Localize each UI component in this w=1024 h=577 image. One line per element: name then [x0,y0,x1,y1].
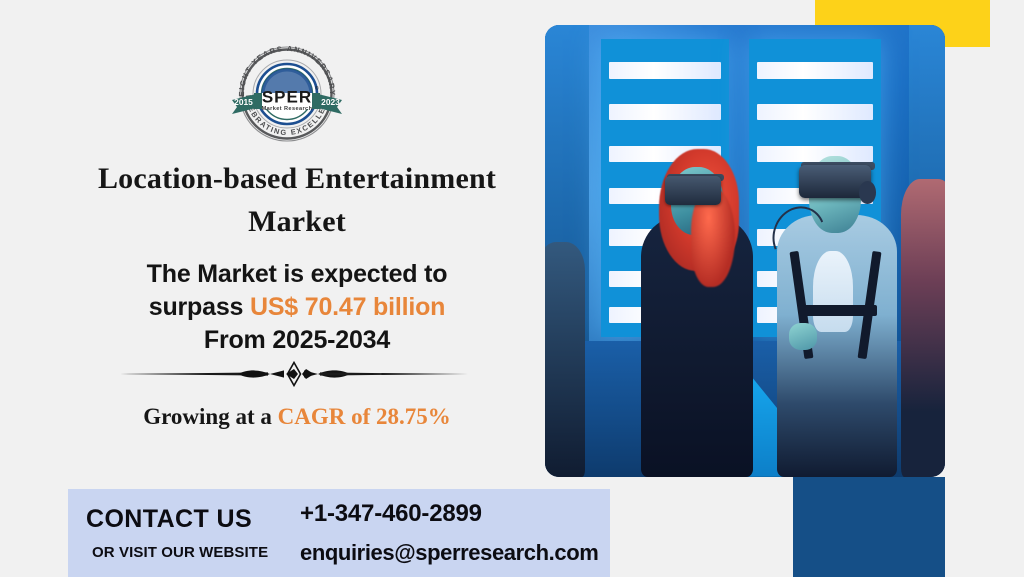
hero-photo [545,25,945,477]
contact-us-label: CONTACT US [86,505,300,534]
poster-canvas: EIGHT YEARS ANNIVERSARY CELEBRATING EXCE… [0,0,1024,577]
logo-tagline-text: Market Research [262,106,313,112]
contact-values: +1-347-460-2899 enquiries@sperresearch.c… [300,500,610,566]
contact-email[interactable]: enquiries@sperresearch.com [300,540,610,566]
scene-person-man-shirt [813,251,853,332]
cagr-highlight: CAGR of 28.75% [278,404,451,429]
logo-year-start: 2015 [234,97,253,107]
scene-person-edge-left [545,242,585,477]
logo-registered-mark: ® [315,85,319,92]
visit-website-label: OR VISIT OUR WEBSITE [86,544,300,561]
cagr-prefix: Growing at a [143,404,277,429]
sper-logo-icon: EIGHT YEARS ANNIVERSARY CELEBRATING EXCE… [226,32,348,150]
market-value-highlight: US$ 70.47 billion [250,293,445,321]
ornamental-divider [118,360,470,388]
scene-man-harness-chest [801,305,877,316]
logo-brand-text: SPER [262,88,312,107]
page-title: Location-based Entertainment Market [62,158,532,243]
ornamental-divider-icon [118,360,470,388]
scene-person-edge-right [901,179,945,477]
contact-bar: CONTACT US OR VISIT OUR WEBSITE +1-347-4… [68,489,610,577]
sper-logo: EIGHT YEARS ANNIVERSARY CELEBRATING EXCE… [226,32,348,150]
scene-man-hand [789,323,817,350]
subtitle-line3: From 2025-2034 [204,326,390,354]
subtitle-line1: The Market is expected to [147,260,448,288]
contact-phone[interactable]: +1-347-460-2899 [300,500,610,528]
logo-year-end: 2023 [321,97,340,107]
page-title-line2: Market [248,205,346,238]
scene-man-headphone [859,181,876,204]
contact-labels: CONTACT US OR VISIT OUR WEBSITE [68,505,300,561]
page-title-line1: Location-based Entertainment [98,162,496,195]
market-value-statement: The Market is expected to surpass US$ 70… [62,258,532,357]
photo-scene [545,25,945,477]
navy-accent-block [793,477,945,577]
cagr-statement: Growing at a CAGR of 28.75% [62,404,532,430]
scene-woman-vr-headset [665,176,721,205]
subtitle-line2-prefix: surpass [149,293,250,321]
